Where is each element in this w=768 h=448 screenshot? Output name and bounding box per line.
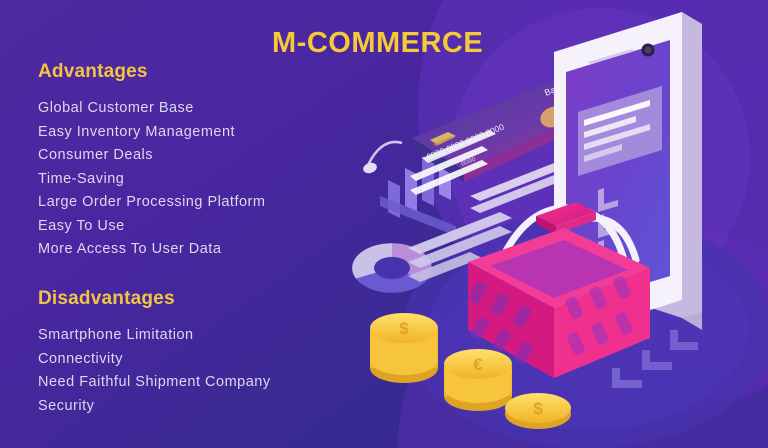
mcommerce-illustration: Bank 0000 0000 0000 0000 00/00 <box>350 0 768 448</box>
advantages-list: Global Customer Base Easy Inventory Mana… <box>38 97 265 262</box>
list-item: Connectivity <box>38 348 271 372</box>
list-item: Consumer Deals <box>38 144 265 168</box>
advantages-section: Advantages Global Customer Base Easy Inv… <box>38 61 265 262</box>
disadvantages-section: Disadvantages Smartphone Limitation Conn… <box>38 288 271 418</box>
list-item: Need Faithful Shipment Company <box>38 371 271 395</box>
coin-dollar-symbol: $ <box>533 399 543 418</box>
list-item: Security <box>38 395 271 419</box>
list-item: Large Order Processing Platform <box>38 191 265 215</box>
list-item: Easy Inventory Management <box>38 121 265 145</box>
list-item: Global Customer Base <box>38 97 265 121</box>
coin-dollar-symbol: $ <box>399 319 409 338</box>
list-item: Easy To Use <box>38 215 265 239</box>
list-item: Smartphone Limitation <box>38 324 271 348</box>
list-item: Time-Saving <box>38 168 265 192</box>
coin-single: $ <box>505 393 571 429</box>
coin-euro-symbol: € <box>473 355 483 374</box>
coin-stack-tall: $ <box>370 313 438 383</box>
infographic-canvas: M-COMMERCE Advantages Global Customer Ba… <box>0 0 768 448</box>
list-item: More Access To User Data <box>38 238 265 262</box>
advantages-heading: Advantages <box>38 61 265 83</box>
disadvantages-heading: Disadvantages <box>38 288 271 310</box>
coin-stack-mid: € <box>444 349 512 411</box>
disadvantages-list: Smartphone Limitation Connectivity Need … <box>38 324 271 418</box>
